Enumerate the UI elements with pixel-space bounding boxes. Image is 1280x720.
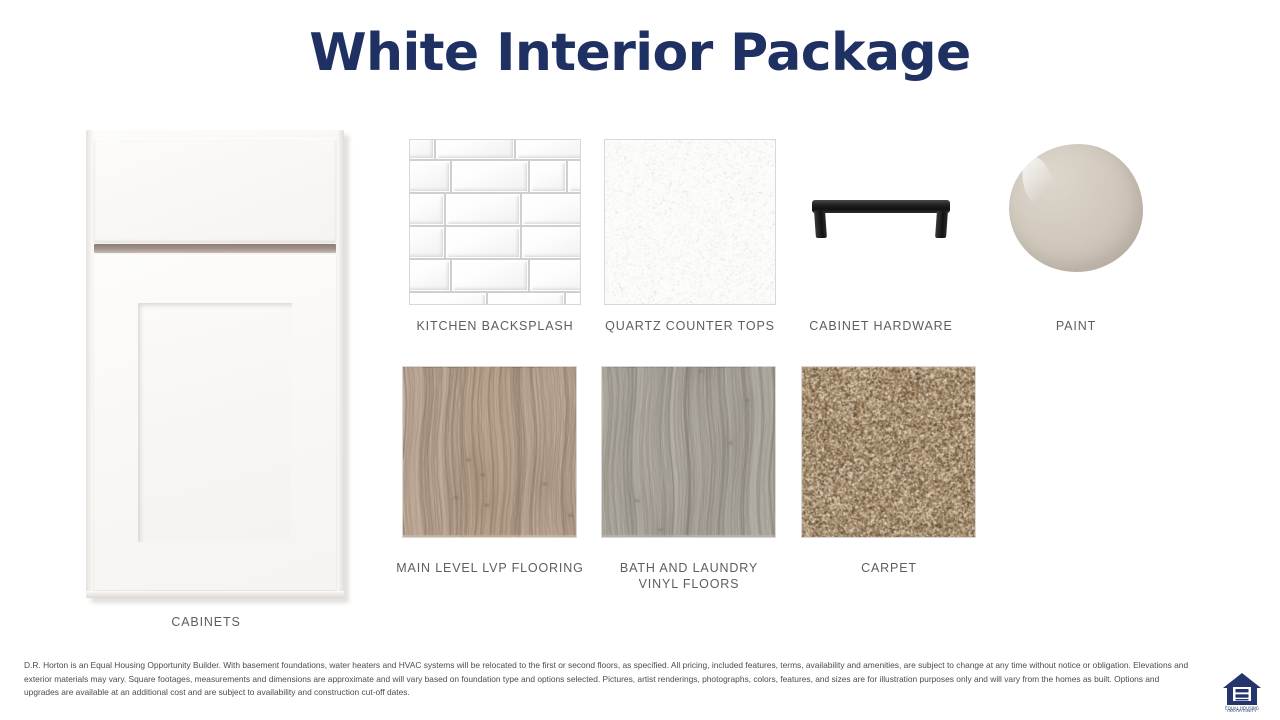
backsplash-tile: [516, 139, 581, 159]
cabinet-right-edge: [337, 130, 344, 598]
svg-text:OPPORTUNITY: OPPORTUNITY: [1227, 708, 1257, 712]
backsplash-tile: [409, 293, 486, 305]
backsplash-tile-row: [409, 161, 581, 194]
backsplash-tile: [530, 260, 581, 291]
swatch-label-main-level-lvp-flooring: MAIN LEVEL LVP FLOORING: [390, 561, 590, 577]
backsplash-tile: [446, 194, 520, 225]
bar-pull-right-leg: [935, 211, 948, 238]
backsplash-tile: [452, 260, 528, 291]
legal-disclaimer: D.R. Horton is an Equal Housing Opportun…: [24, 659, 1196, 700]
backsplash-tile: [522, 227, 581, 258]
backsplash-tile: [488, 293, 564, 305]
bar-pull-left-leg: [814, 211, 827, 238]
backsplash-tile-row: [409, 139, 581, 161]
swatch-label-cabinet-hardware: CABINET HARDWARE: [782, 319, 980, 335]
swatch-kitchen-backsplash: [409, 139, 581, 305]
backsplash-tile-row: [409, 227, 581, 260]
swatch-carpet: [801, 366, 976, 538]
backsplash-tile: [409, 194, 444, 225]
vinyl-wood-grain-texture: [602, 367, 776, 538]
backsplash-tile: [436, 139, 514, 159]
backsplash-tile-row: [409, 194, 581, 227]
cabinet-door: [94, 255, 336, 590]
swatch-paint: [1009, 144, 1143, 272]
backsplash-tile: [446, 227, 520, 258]
swatch-label-carpet: CARPET: [789, 561, 989, 577]
interior-package-slide: White Interior Package CABINETS KITCHEN …: [0, 0, 1280, 720]
backsplash-tile: [409, 139, 434, 159]
swatch-bath-and-laundry-vinyl-floors: [601, 366, 776, 538]
cabinet-recessed-panel: [138, 303, 292, 542]
swatch-label-paint: PAINT: [977, 319, 1175, 335]
lvp-wood-grain-texture: [403, 367, 577, 538]
backsplash-tile-row: [409, 293, 581, 305]
backsplash-tile: [409, 161, 450, 192]
backsplash-tile: [568, 161, 581, 192]
swatch-label-bath-and-laundry-vinyl-floors: BATH AND LAUNDRY VINYL FLOORS: [589, 561, 789, 592]
backsplash-tile-row: [409, 260, 581, 293]
swatch-quartz-counter-tops: [604, 139, 776, 305]
swatch-main-level-lvp-flooring: [402, 366, 577, 538]
equal-housing-opportunity-icon: EQUAL HOUSING OPPORTUNITY: [1220, 668, 1264, 712]
backsplash-tile: [530, 161, 566, 192]
swatch-label-quartz-counter-tops: QUARTZ COUNTER TOPS: [591, 319, 789, 335]
backsplash-tile: [409, 260, 450, 291]
backsplash-tile: [522, 194, 581, 225]
swatch-cabinets: [86, 130, 344, 598]
cabinet-left-edge: [86, 130, 93, 598]
cabinet-bottom-edge: [86, 591, 344, 598]
cabinet-image: [86, 130, 344, 598]
paint-gloss-highlight: [1014, 152, 1061, 211]
backsplash-tile: [452, 161, 528, 192]
swatch-label-kitchen-backsplash: KITCHEN BACKSPLASH: [396, 319, 594, 335]
swatch-cabinet-hardware: [812, 196, 950, 244]
bar-pull-handle: [812, 200, 950, 213]
page-title: White Interior Package: [0, 24, 1280, 84]
quartz-speckle-texture: [605, 140, 776, 305]
carpet-fleck-texture: [802, 367, 976, 538]
backsplash-tile: [566, 293, 581, 305]
swatch-label-cabinets: CABINETS: [106, 615, 306, 631]
backsplash-tile: [409, 227, 444, 258]
cabinet-reveal-gap: [94, 244, 336, 253]
cabinet-drawer-front: [94, 138, 336, 242]
